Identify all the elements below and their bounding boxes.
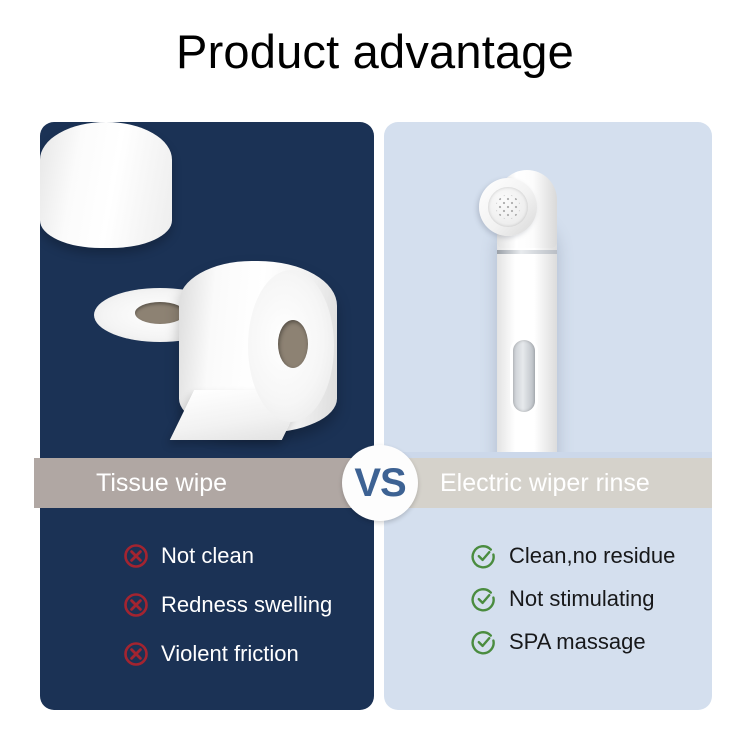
feature-label: Violent friction (161, 643, 299, 665)
label-right: Electric wiper rinse (440, 469, 650, 498)
feature-label: Redness swelling (161, 594, 332, 616)
feature-label: Not stimulating (509, 588, 655, 610)
list-item: Not stimulating (471, 586, 675, 612)
feature-label: SPA massage (509, 631, 646, 653)
tissue-roll-back-hole (135, 302, 185, 324)
circle-check-icon (471, 629, 497, 655)
circle-x-icon (123, 543, 149, 569)
device-ring (497, 250, 557, 254)
device-control-window (513, 340, 535, 412)
tissue-roll-front-hole (278, 320, 308, 368)
device-nozzle-grille-icon (488, 187, 528, 227)
product-image-device (384, 122, 712, 458)
list-item: Redness swelling (123, 592, 332, 618)
label-band-left: Tissue wipe (34, 458, 380, 508)
product-image-tissue (40, 122, 374, 458)
feature-list-right: Clean,no residue Not stimulating SPA mas… (471, 543, 675, 655)
comparison-stage: Tissue wipe Electric wiper rinse VS Not … (0, 0, 750, 750)
circle-check-icon (471, 543, 497, 569)
list-item: Not clean (123, 543, 332, 569)
list-item: Clean,no residue (471, 543, 675, 569)
vs-badge: VS (342, 445, 418, 521)
list-item: SPA massage (471, 629, 675, 655)
feature-label: Clean,no residue (509, 545, 675, 567)
feature-label: Not clean (161, 545, 254, 567)
circle-check-icon (471, 586, 497, 612)
circle-x-icon (123, 592, 149, 618)
feature-list-left: Not clean Redness swelling Violent frict… (123, 543, 332, 667)
list-item: Violent friction (123, 641, 332, 667)
tissue-roll-back (40, 122, 172, 248)
label-band-right: Electric wiper rinse (378, 458, 712, 508)
vs-label: VS (354, 463, 405, 503)
label-left: Tissue wipe (96, 469, 227, 498)
circle-x-icon (123, 641, 149, 667)
